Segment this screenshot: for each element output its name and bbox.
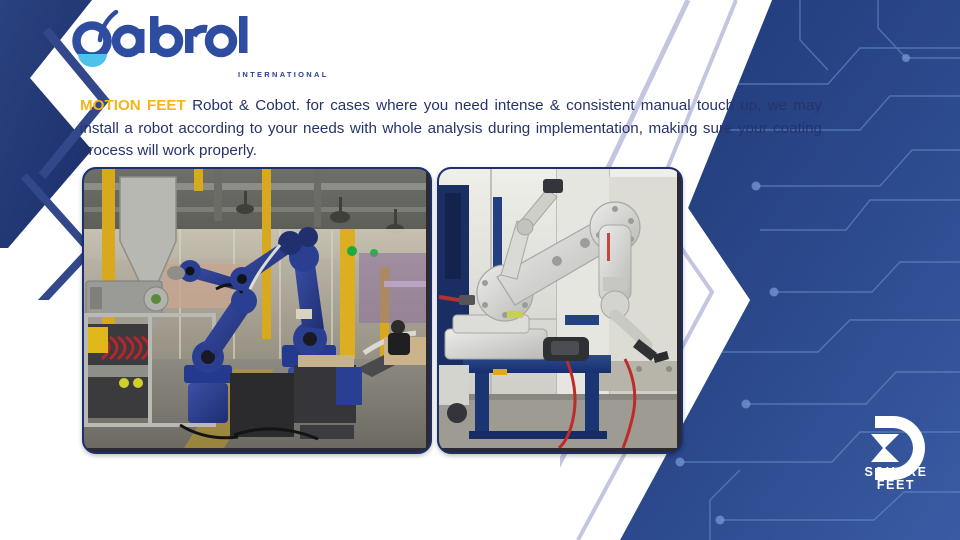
square-feet-line2: FEET bbox=[846, 478, 946, 492]
highlight-text: MOTION FEET bbox=[80, 97, 186, 114]
slide-canvas: INTERNATIONAL MOTION FEET Robot & Cobot.… bbox=[0, 0, 960, 540]
paragraph-text: Robot & Cobot. for cases where you need … bbox=[80, 97, 822, 159]
photo-robot-coating-line[interactable] bbox=[82, 167, 432, 454]
photo-white-robot-arm[interactable] bbox=[437, 167, 683, 454]
logo-subtitle: INTERNATIONAL bbox=[238, 70, 329, 79]
square-feet-wordmark: SQUARE FEET bbox=[846, 465, 946, 492]
square-feet-line1: SQUARE bbox=[846, 465, 946, 479]
gabrol-logo-mark bbox=[70, 10, 260, 80]
body-paragraph: MOTION FEET Robot & Cobot. for cases whe… bbox=[80, 95, 822, 163]
gabrol-logo: INTERNATIONAL bbox=[70, 10, 260, 80]
